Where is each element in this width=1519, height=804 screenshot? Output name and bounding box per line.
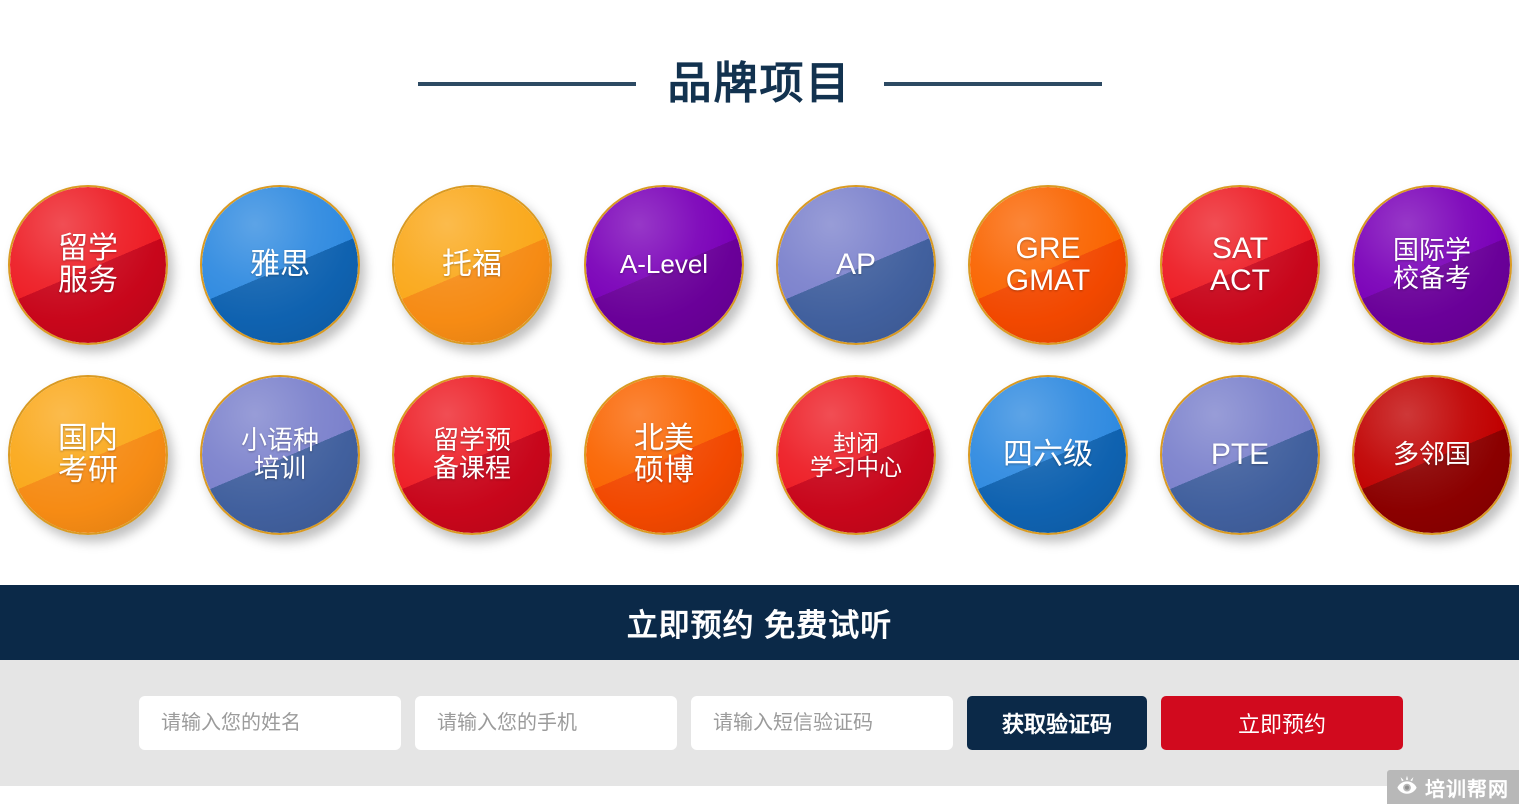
program-grid: 留学 服务雅思托福A-LevelAPGRE GMATSAT ACT国际学 校备考… <box>8 185 1512 535</box>
program-label: 国内 考研 <box>52 423 124 487</box>
program-label: 雅思 <box>244 249 316 281</box>
program-guoji-xuexiao[interactable]: 国际学 校备考 <box>1352 185 1512 345</box>
program-label: A-Level <box>614 251 714 279</box>
watermark-text: 培训帮网 <box>1425 773 1509 802</box>
program-liuxue-fuwu[interactable]: 留学 服务 <box>8 185 168 345</box>
program-xiaoyuzhong[interactable]: 小语种 培训 <box>200 375 360 535</box>
program-label: GRE GMAT <box>1000 233 1096 297</box>
cta-banner: 立即预约 免费试听 <box>0 585 1519 660</box>
program-label: 留学预 备课程 <box>427 427 517 482</box>
program-sat-act[interactable]: SAT ACT <box>1160 185 1320 345</box>
submit-appointment-button[interactable]: 立即预约 <box>1161 696 1403 750</box>
program-label: PTE <box>1205 439 1275 471</box>
program-label: 多邻国 <box>1387 441 1477 469</box>
site-watermark: 培训帮网 <box>1387 770 1519 804</box>
title-rule-right <box>884 82 1102 86</box>
program-label: 北美 硕博 <box>628 423 700 487</box>
program-label: SAT ACT <box>1204 233 1276 297</box>
program-beimei-shuobo[interactable]: 北美 硕博 <box>584 375 744 535</box>
program-liuxue-yubei[interactable]: 留学预 备课程 <box>392 375 552 535</box>
phone-input[interactable] <box>415 696 677 750</box>
program-label: 托福 <box>436 249 508 281</box>
cta-banner-text: 立即预约 免费试听 <box>627 600 893 645</box>
program-label: 国际学 校备考 <box>1387 237 1477 292</box>
program-tuofu[interactable]: 托福 <box>392 185 552 345</box>
sms-code-input[interactable] <box>691 696 953 750</box>
program-fengbi-zhongxin[interactable]: 封闭 学习中心 <box>776 375 936 535</box>
program-duolinguo[interactable]: 多邻国 <box>1352 375 1512 535</box>
program-ap[interactable]: AP <box>776 185 936 345</box>
program-label: 封闭 学习中心 <box>804 431 908 480</box>
program-label: 小语种 培训 <box>235 427 325 482</box>
program-label: 四六级 <box>997 439 1099 471</box>
appointment-form: 获取验证码 立即预约 <box>0 660 1519 786</box>
program-gre-gmat[interactable]: GRE GMAT <box>968 185 1128 345</box>
program-a-level[interactable]: A-Level <box>584 185 744 345</box>
program-pte[interactable]: PTE <box>1160 375 1320 535</box>
title-text: 品牌项目 <box>668 62 852 106</box>
program-siliuji[interactable]: 四六级 <box>968 375 1128 535</box>
program-yasi[interactable]: 雅思 <box>200 185 360 345</box>
title-rule-left <box>418 82 636 86</box>
name-input[interactable] <box>139 696 401 750</box>
program-label: 留学 服务 <box>52 233 124 297</box>
program-guonei-kaoyan[interactable]: 国内 考研 <box>8 375 168 535</box>
program-label: AP <box>830 249 882 281</box>
get-code-button[interactable]: 获取验证码 <box>967 696 1147 750</box>
page-title: 品牌项目 <box>0 62 1519 106</box>
eye-icon <box>1396 775 1418 800</box>
